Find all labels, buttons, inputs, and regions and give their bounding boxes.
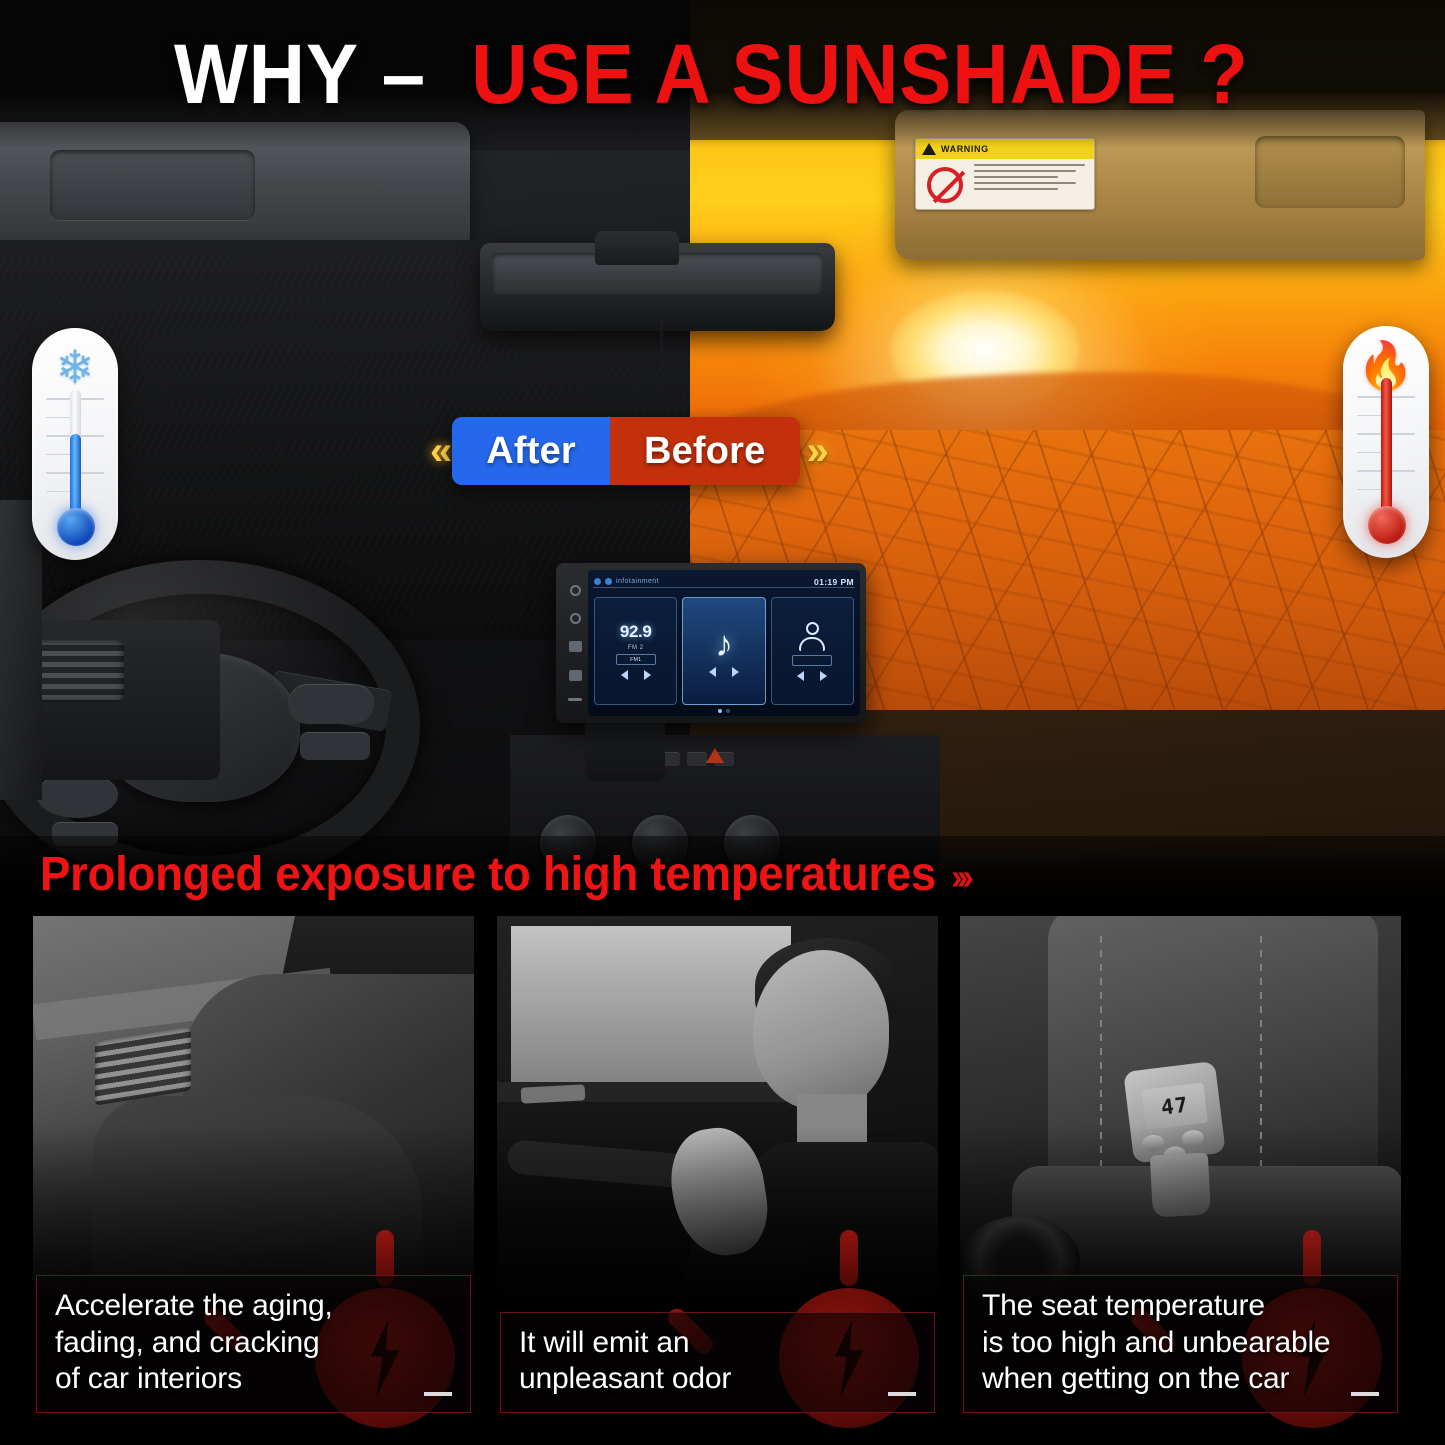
title-dash: – — [382, 32, 426, 116]
music-note-icon: ♪ — [715, 626, 733, 662]
radio-frequency: 92.9 — [620, 622, 652, 642]
subheading-band: Prolonged exposure to high temperatures›… — [0, 836, 1445, 912]
chevron-triple-icon: ››› — [951, 856, 968, 898]
card-caption: It will emit an unpleasant odor — [500, 1312, 935, 1413]
hazard-light-icon[interactable] — [706, 748, 724, 763]
after-before-badge: « After Before » — [430, 417, 822, 485]
no-child-seat-icon — [916, 159, 974, 210]
volume-knob-icon[interactable] — [570, 613, 581, 624]
card-caption: Accelerate the aging, fading, and cracki… — [36, 1275, 471, 1413]
seek-prev-icon[interactable] — [621, 670, 628, 680]
chevron-left-icon: « — [430, 431, 445, 471]
head-unit-side-buttons[interactable] — [562, 570, 588, 716]
profile-tile[interactable] — [771, 597, 854, 705]
radio-seek-controls[interactable] — [621, 670, 651, 680]
warning-label-body — [916, 159, 1094, 210]
title-why: WHY — [174, 32, 359, 116]
menu-icon[interactable] — [568, 698, 582, 701]
mirror-wire — [660, 318, 663, 388]
profile-prev-icon[interactable] — [797, 671, 804, 681]
infotainment-head-unit[interactable]: infotainment 01:19 PM 92.9 FM 2 FM1 — [556, 563, 866, 723]
hero-comparison-image: WARNING — [0, 0, 1445, 912]
after-label: After — [452, 417, 610, 485]
rearview-mirror-stem — [595, 231, 679, 265]
profile-nav-controls[interactable] — [797, 671, 827, 681]
caption-underscore — [1351, 1392, 1379, 1396]
media-tile[interactable]: ♪ — [682, 597, 765, 705]
visor-slot-left — [50, 150, 255, 220]
steering-button-cluster-right — [288, 684, 374, 724]
profile-name-field[interactable] — [792, 655, 832, 666]
caption-underscore — [888, 1392, 916, 1396]
after-before-pill: After Before — [452, 417, 799, 485]
console-button[interactable] — [687, 752, 707, 766]
snowflake-icon: ❄ — [32, 344, 118, 390]
card-caption: The seat temperature is too high and unb… — [963, 1275, 1398, 1413]
chevron-right-icon: » — [807, 431, 822, 471]
thermometer-fill-hot — [1381, 378, 1392, 518]
power-knob-icon[interactable] — [570, 585, 581, 596]
bluetooth-icon — [594, 578, 601, 585]
card-seat-temperature: 47 The seat te — [960, 916, 1401, 1437]
steering-button-extra-right — [300, 732, 370, 760]
consequence-cards: Accelerate the aging, fading, and cracki… — [0, 912, 1445, 1445]
person-icon — [799, 622, 825, 652]
media-prev-icon[interactable] — [709, 667, 716, 677]
page-title: WHY – USE A SUNSHADE ? — [0, 0, 1445, 148]
home-icon[interactable] — [569, 670, 582, 681]
subheading-text: Prolonged exposure to high temperatures›… — [40, 847, 968, 902]
seek-next-icon[interactable] — [644, 670, 651, 680]
thermometer-bulb-hot — [1368, 506, 1406, 544]
media-next-icon[interactable] — [732, 667, 739, 677]
a-pillar-left — [0, 500, 42, 800]
warning-label-textlines — [974, 159, 1094, 210]
before-label: Before — [610, 417, 800, 485]
card-unpleasant-odor: It will emit an unpleasant odor — [497, 916, 938, 1437]
profile-next-icon[interactable] — [820, 671, 827, 681]
sunshade-infographic-poster: WARNING — [0, 0, 1445, 1445]
head-unit-screen[interactable]: infotainment 01:19 PM 92.9 FM 2 FM1 — [588, 570, 860, 716]
radio-preset-button[interactable]: FM1 — [616, 654, 656, 665]
head-unit-tiles: 92.9 FM 2 FM1 ♪ — [594, 597, 854, 705]
head-unit-clock: 01:19 PM — [814, 577, 854, 587]
visor-warning-label: WARNING — [915, 138, 1095, 210]
media-transport-controls[interactable] — [709, 667, 739, 677]
head-unit-mount — [585, 723, 665, 781]
card-interior-aging: Accelerate the aging, fading, and cracki… — [33, 916, 474, 1437]
caption-underscore — [424, 1392, 452, 1396]
title-use-a-sunshade: USE A SUNSHADE ? — [471, 32, 1248, 116]
radio-band: FM 2 — [628, 645, 644, 651]
page-indicator-dots[interactable] — [718, 709, 730, 713]
cold-thermometer: ❄ — [32, 328, 118, 560]
hot-thermometer: 🔥 — [1343, 326, 1429, 558]
radio-tile[interactable]: 92.9 FM 2 FM1 — [594, 597, 677, 705]
signal-icon — [605, 578, 612, 585]
prohibition-circle-icon — [927, 167, 963, 203]
head-unit-brand: infotainment — [594, 578, 659, 585]
thermometer-bulb-cold — [57, 508, 95, 546]
speaker-icon[interactable] — [569, 641, 582, 652]
